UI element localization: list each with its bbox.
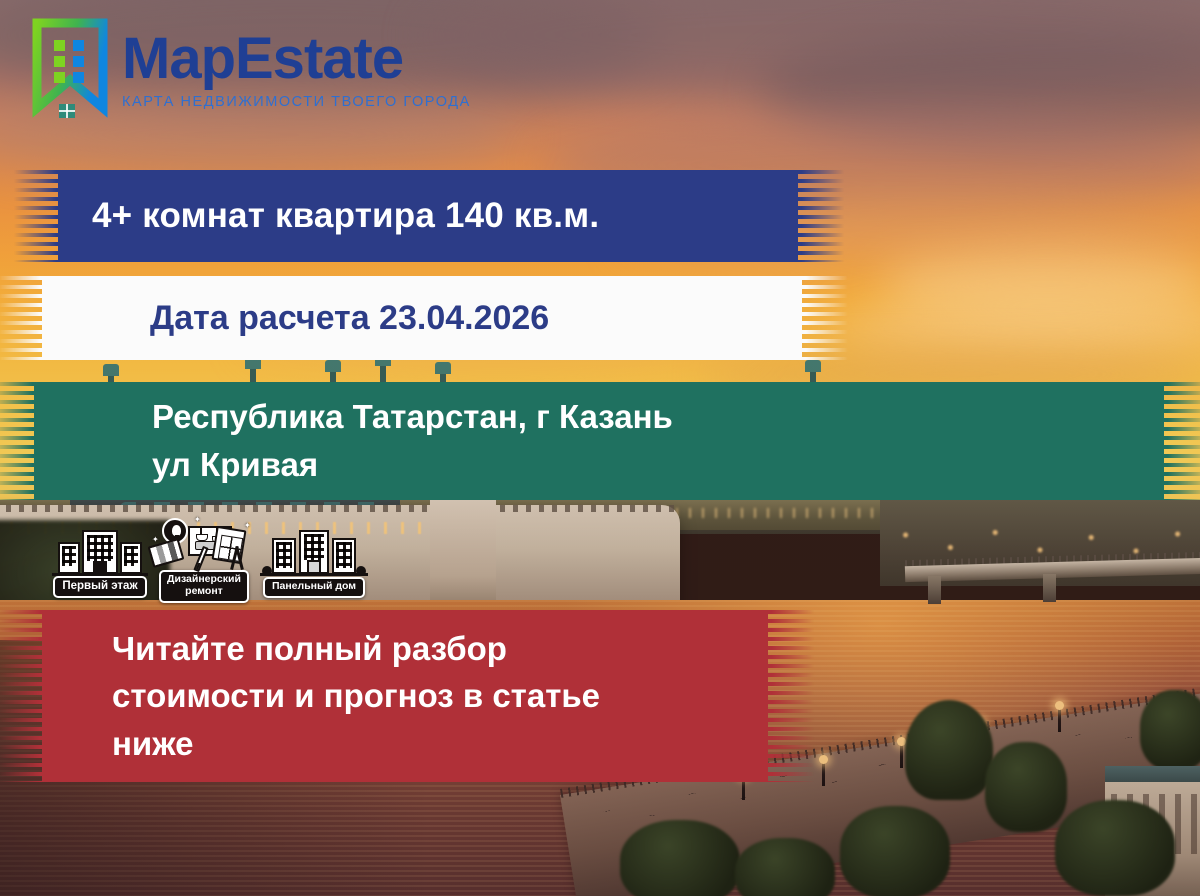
tree (905, 700, 993, 800)
tree (620, 820, 740, 896)
cta-banner-lines: Читайте полный разбор стоимости и прогно… (42, 625, 768, 767)
interior-design-icon: ✦ ✦ ✦ (152, 520, 256, 570)
tree (985, 742, 1067, 832)
street-lamp (1058, 706, 1061, 732)
panel-apartment-block-icon (260, 528, 368, 576)
bridge-pier (1043, 574, 1056, 602)
street-lamp (900, 742, 903, 768)
badge-panel-house[interactable]: Панельный дом (260, 528, 368, 598)
badge-designer-repair[interactable]: ✦ ✦ ✦ Дизайнерский ремонт (152, 520, 256, 603)
kremlin-tower (430, 485, 496, 615)
brand-tagline: КАРТА НЕДВИЖИМОСТИ ТВОЕГО ГОРОДА (122, 94, 471, 110)
tree (1055, 800, 1175, 896)
calculation-date-banner: Дата расчета 23.04.2026 (42, 276, 802, 360)
brand-logo[interactable]: MapEstate КАРТА НЕДВИЖИМОСТИ ТВОЕГО ГОРО… (32, 18, 471, 122)
calculation-date-text: Дата расчета 23.04.2026 (42, 299, 802, 338)
rooms-banner-text: 4+ комнат квартира 140 кв.м. (58, 196, 798, 236)
cloud (880, 250, 1200, 320)
tree (1140, 690, 1200, 770)
brand-name: MapEstate (122, 30, 471, 88)
address-banner: Республика Татарстан, г Казань ул Кривая (34, 382, 1164, 500)
feature-badges: Первый этаж ✦ ✦ ✦ Дизайнерский (52, 520, 372, 598)
low-rise-building-icon (52, 528, 148, 576)
badge-panel-house-label: Панельный дом (263, 577, 365, 598)
address-banner-lines: Республика Татарстан, г Казань ул Кривая (34, 393, 1164, 489)
address-street: ул Кривая (152, 441, 1164, 489)
bookmark-building-icon (32, 18, 108, 122)
badge-first-floor-label: Первый этаж (53, 576, 146, 598)
badge-first-floor[interactable]: Первый этаж (52, 528, 148, 598)
cta-line-1: Читайте полный разбор (112, 625, 768, 672)
cta-line-3: ниже (112, 720, 768, 767)
rooms-banner: 4+ комнат квартира 140 кв.м. (58, 170, 798, 262)
cta-line-2: стоимости и прогноз в статье (112, 672, 768, 719)
bridge-pier (928, 576, 941, 604)
cta-banner[interactable]: Читайте полный разбор стоимости и прогно… (42, 610, 768, 782)
street-lamp (822, 760, 825, 786)
tree (840, 806, 950, 896)
promo-card: MapEstate КАРТА НЕДВИЖИМОСТИ ТВОЕГО ГОРО… (0, 0, 1200, 896)
tree (735, 838, 835, 896)
badge-designer-repair-label: Дизайнерский ремонт (159, 570, 249, 603)
address-region-city: Республика Татарстан, г Казань (152, 393, 1164, 441)
